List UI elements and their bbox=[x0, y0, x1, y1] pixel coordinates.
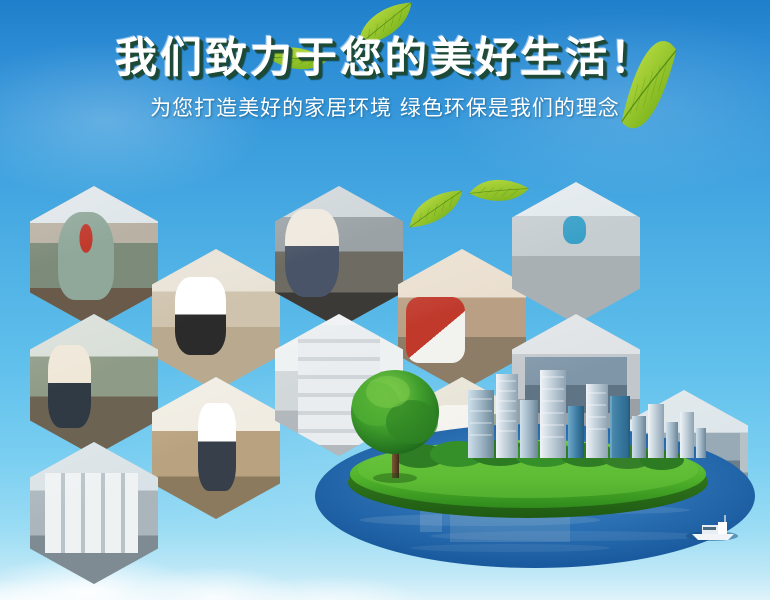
photo-sheen bbox=[30, 314, 158, 456]
subline-container: 为您打造美好的家居环境 绿色环保是我们的理念 bbox=[0, 94, 770, 122]
promo-banner: 我们致力于您的美好生活！ 为您打造美好的家居环境 绿色环保是我们的理念 bbox=[0, 0, 770, 600]
island-svg bbox=[300, 370, 770, 600]
hex-tile-grease-trap-cleaning[interactable] bbox=[512, 182, 640, 324]
photo-sheen bbox=[152, 249, 280, 391]
hex-tile-chandelier-cleaning[interactable] bbox=[152, 377, 280, 519]
hex-tile-high-rise-rope-work[interactable] bbox=[30, 442, 158, 584]
photo-sheen bbox=[30, 442, 158, 584]
photo-sheen bbox=[275, 186, 403, 328]
eco-city-island bbox=[300, 370, 770, 600]
city-skyline-graphic bbox=[468, 370, 706, 458]
photo-sheen bbox=[152, 377, 280, 519]
hex-tile-duct-cleaning[interactable] bbox=[275, 186, 403, 328]
photo-sheen bbox=[512, 182, 640, 324]
page-subtitle: 为您打造美好的家居环境 绿色环保是我们的理念 bbox=[150, 94, 620, 122]
headline-container: 我们致力于您的美好生活！ bbox=[0, 34, 770, 82]
hex-tile-demolition-worker[interactable] bbox=[30, 186, 158, 328]
hex-tile-railing-painting[interactable] bbox=[30, 314, 158, 456]
page-title: 我们致力于您的美好生活！ bbox=[115, 34, 655, 82]
photo-sheen bbox=[30, 186, 158, 328]
hex-tile-stair-mopping[interactable] bbox=[152, 249, 280, 391]
